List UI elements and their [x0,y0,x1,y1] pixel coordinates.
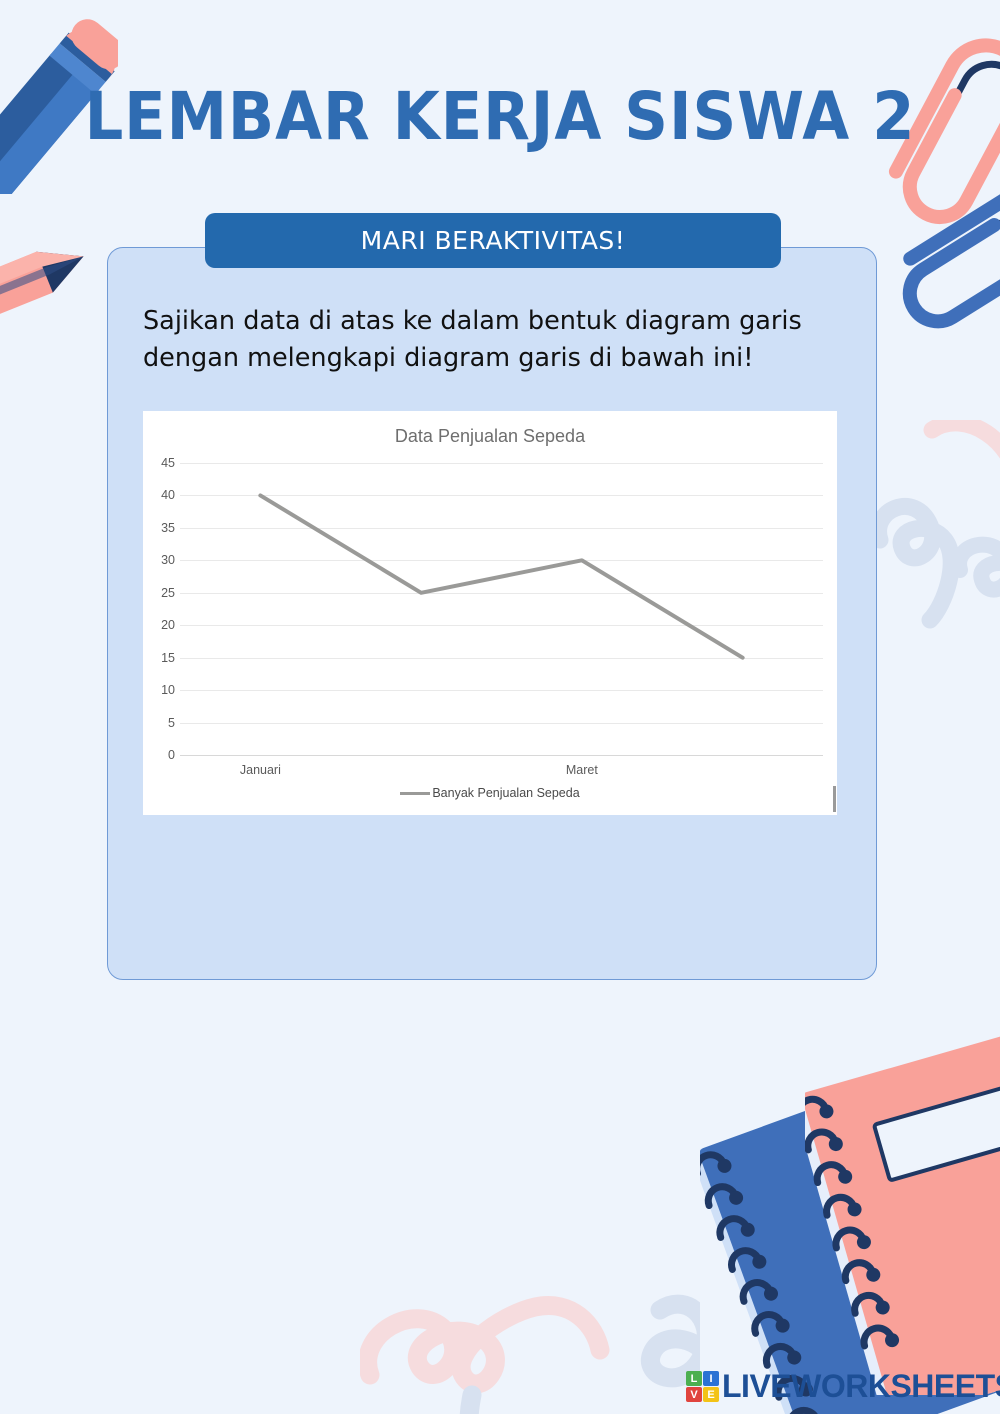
squiggle-doodle-icon [880,1090,1000,1270]
chart-series-line [180,463,823,755]
chart-y-axis: 454035302520151050 [143,463,175,755]
squiggle-doodle-icon [360,1255,700,1414]
liveworksheets-tile-e: E [703,1387,719,1402]
chart-y-tick-label: 35 [161,521,175,535]
chart-y-tick-label: 10 [161,683,175,697]
liveworksheets-tile-i: I [703,1371,719,1386]
chart-y-tick-label: 0 [168,748,175,762]
chart-gridline [180,755,823,756]
chart-y-tick-label: 45 [161,456,175,470]
liveworksheets-tile-l: L [686,1371,702,1386]
chart-title: Data Penjualan Sepeda [143,426,837,447]
chart-x-axis: JanuariMaret [180,763,823,781]
notebook-pink-icon [805,1025,1000,1395]
pencil-pink-icon [0,236,102,346]
activity-banner: MARI BERAKTIVITAS! [205,213,781,268]
chart-y-tick-label: 5 [168,716,175,730]
notebook-blue-icon [700,1060,1000,1414]
liveworksheets-tiles: LIVE [686,1371,719,1402]
line-chart[interactable]: Data Penjualan Sepeda 454035302520151050… [143,411,837,815]
chart-y-tick-label: 25 [161,586,175,600]
worksheet-page: LEMBAR KERJA SISWA 2 MARI BERAKTIVITAS! … [0,0,1000,1414]
chart-scroll-nub[interactable] [833,786,836,812]
chart-legend: Banyak Penjualan Sepeda [143,786,837,800]
chart-y-tick-label: 40 [161,488,175,502]
liveworksheets-wordmark: LIVEWORKSHEETS [722,1368,1000,1405]
chart-x-tick-label: Maret [566,763,598,777]
chart-x-tick-label: Januari [240,763,281,777]
legend-line-swatch [400,792,430,795]
legend-label: Banyak Penjualan Sepeda [432,786,579,800]
chart-y-tick-label: 30 [161,553,175,567]
chart-plot-area [180,463,823,755]
instruction-line-1: Sajikan data di atas ke dalam bentuk dia… [143,306,802,336]
activity-banner-label: MARI BERAKTIVITAS! [361,226,626,255]
paperclip-blue-icon [900,170,1000,360]
instruction-line-2: dengan melengkapi diagram garis di bawah… [143,340,843,377]
page-title: LEMBAR KERJA SISWA 2 [40,78,960,155]
squiggle-doodle-icon [860,420,1000,720]
liveworksheets-tile-v: V [686,1387,702,1402]
liveworksheets-logo: LIVE LIVEWORKSHEETS [686,1368,1000,1405]
instruction-text: Sajikan data di atas ke dalam bentuk dia… [143,303,843,378]
chart-y-tick-label: 15 [161,651,175,665]
chart-y-tick-label: 20 [161,618,175,632]
